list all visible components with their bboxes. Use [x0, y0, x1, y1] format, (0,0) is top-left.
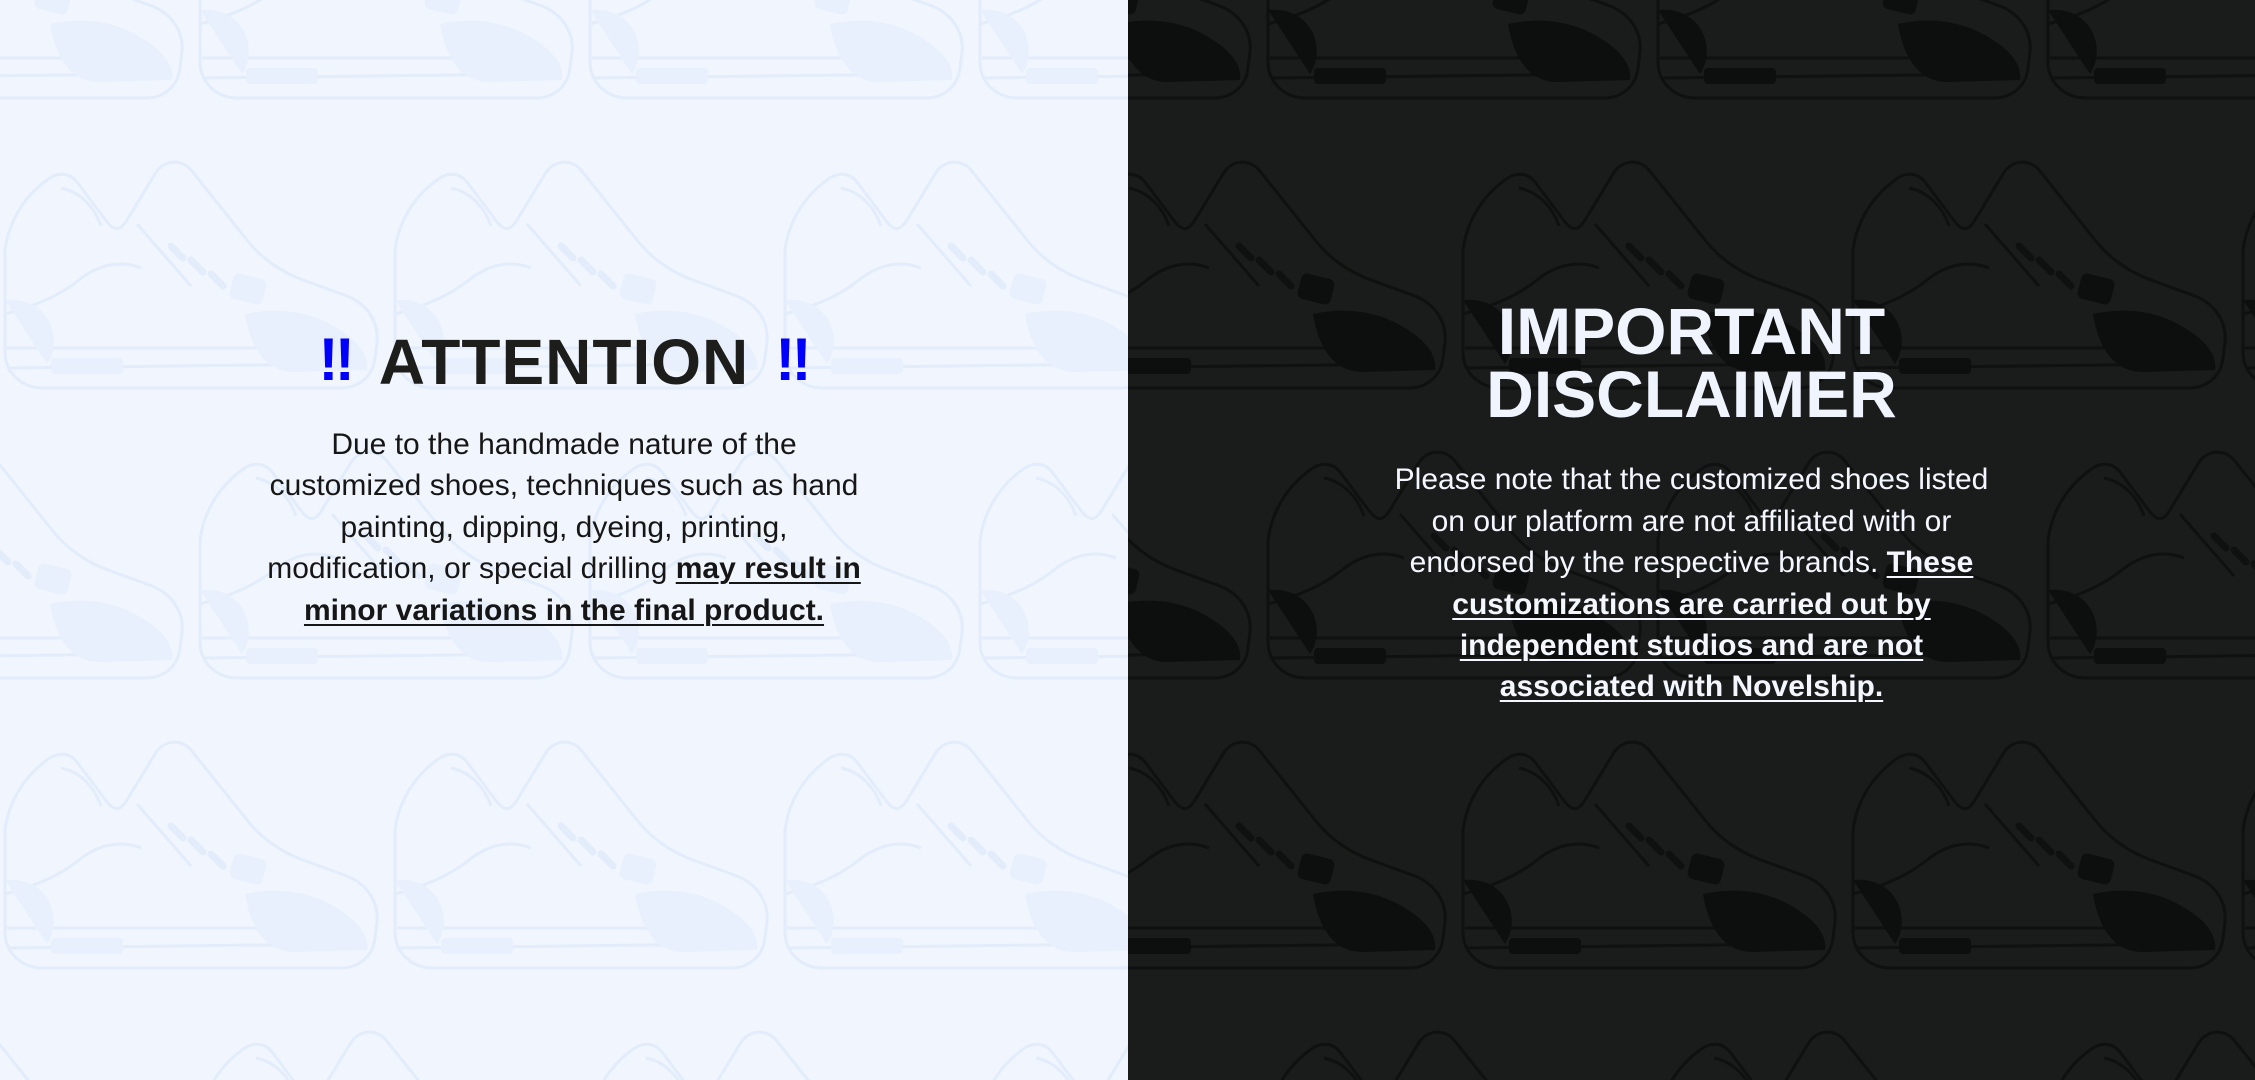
- disclaimer-heading: IMPORTANT DISCLAIMER: [1486, 300, 1897, 425]
- disclaimer-panel: IMPORTANT DISCLAIMER Please note that th…: [1128, 0, 2255, 1080]
- disclaimer-banner: ‼ ATTENTION ‼ Due to the handmade nature…: [0, 0, 2255, 1080]
- disclaimer-content: IMPORTANT DISCLAIMER Please note that th…: [1128, 0, 2255, 708]
- double-exclamation-right-icon: ‼: [775, 330, 809, 390]
- disclaimer-heading-line-2: DISCLAIMER: [1486, 357, 1897, 431]
- attention-content: ‼ ATTENTION ‼ Due to the handmade nature…: [0, 0, 1128, 631]
- attention-heading: ‼ ATTENTION ‼: [319, 330, 810, 394]
- disclaimer-body: Please note that the customized shoes li…: [1382, 459, 2002, 707]
- attention-body: Due to the handmade nature of the custom…: [264, 424, 864, 631]
- attention-heading-text: ATTENTION: [379, 330, 749, 394]
- attention-panel: ‼ ATTENTION ‼ Due to the handmade nature…: [0, 0, 1128, 1080]
- double-exclamation-left-icon: ‼: [319, 330, 353, 390]
